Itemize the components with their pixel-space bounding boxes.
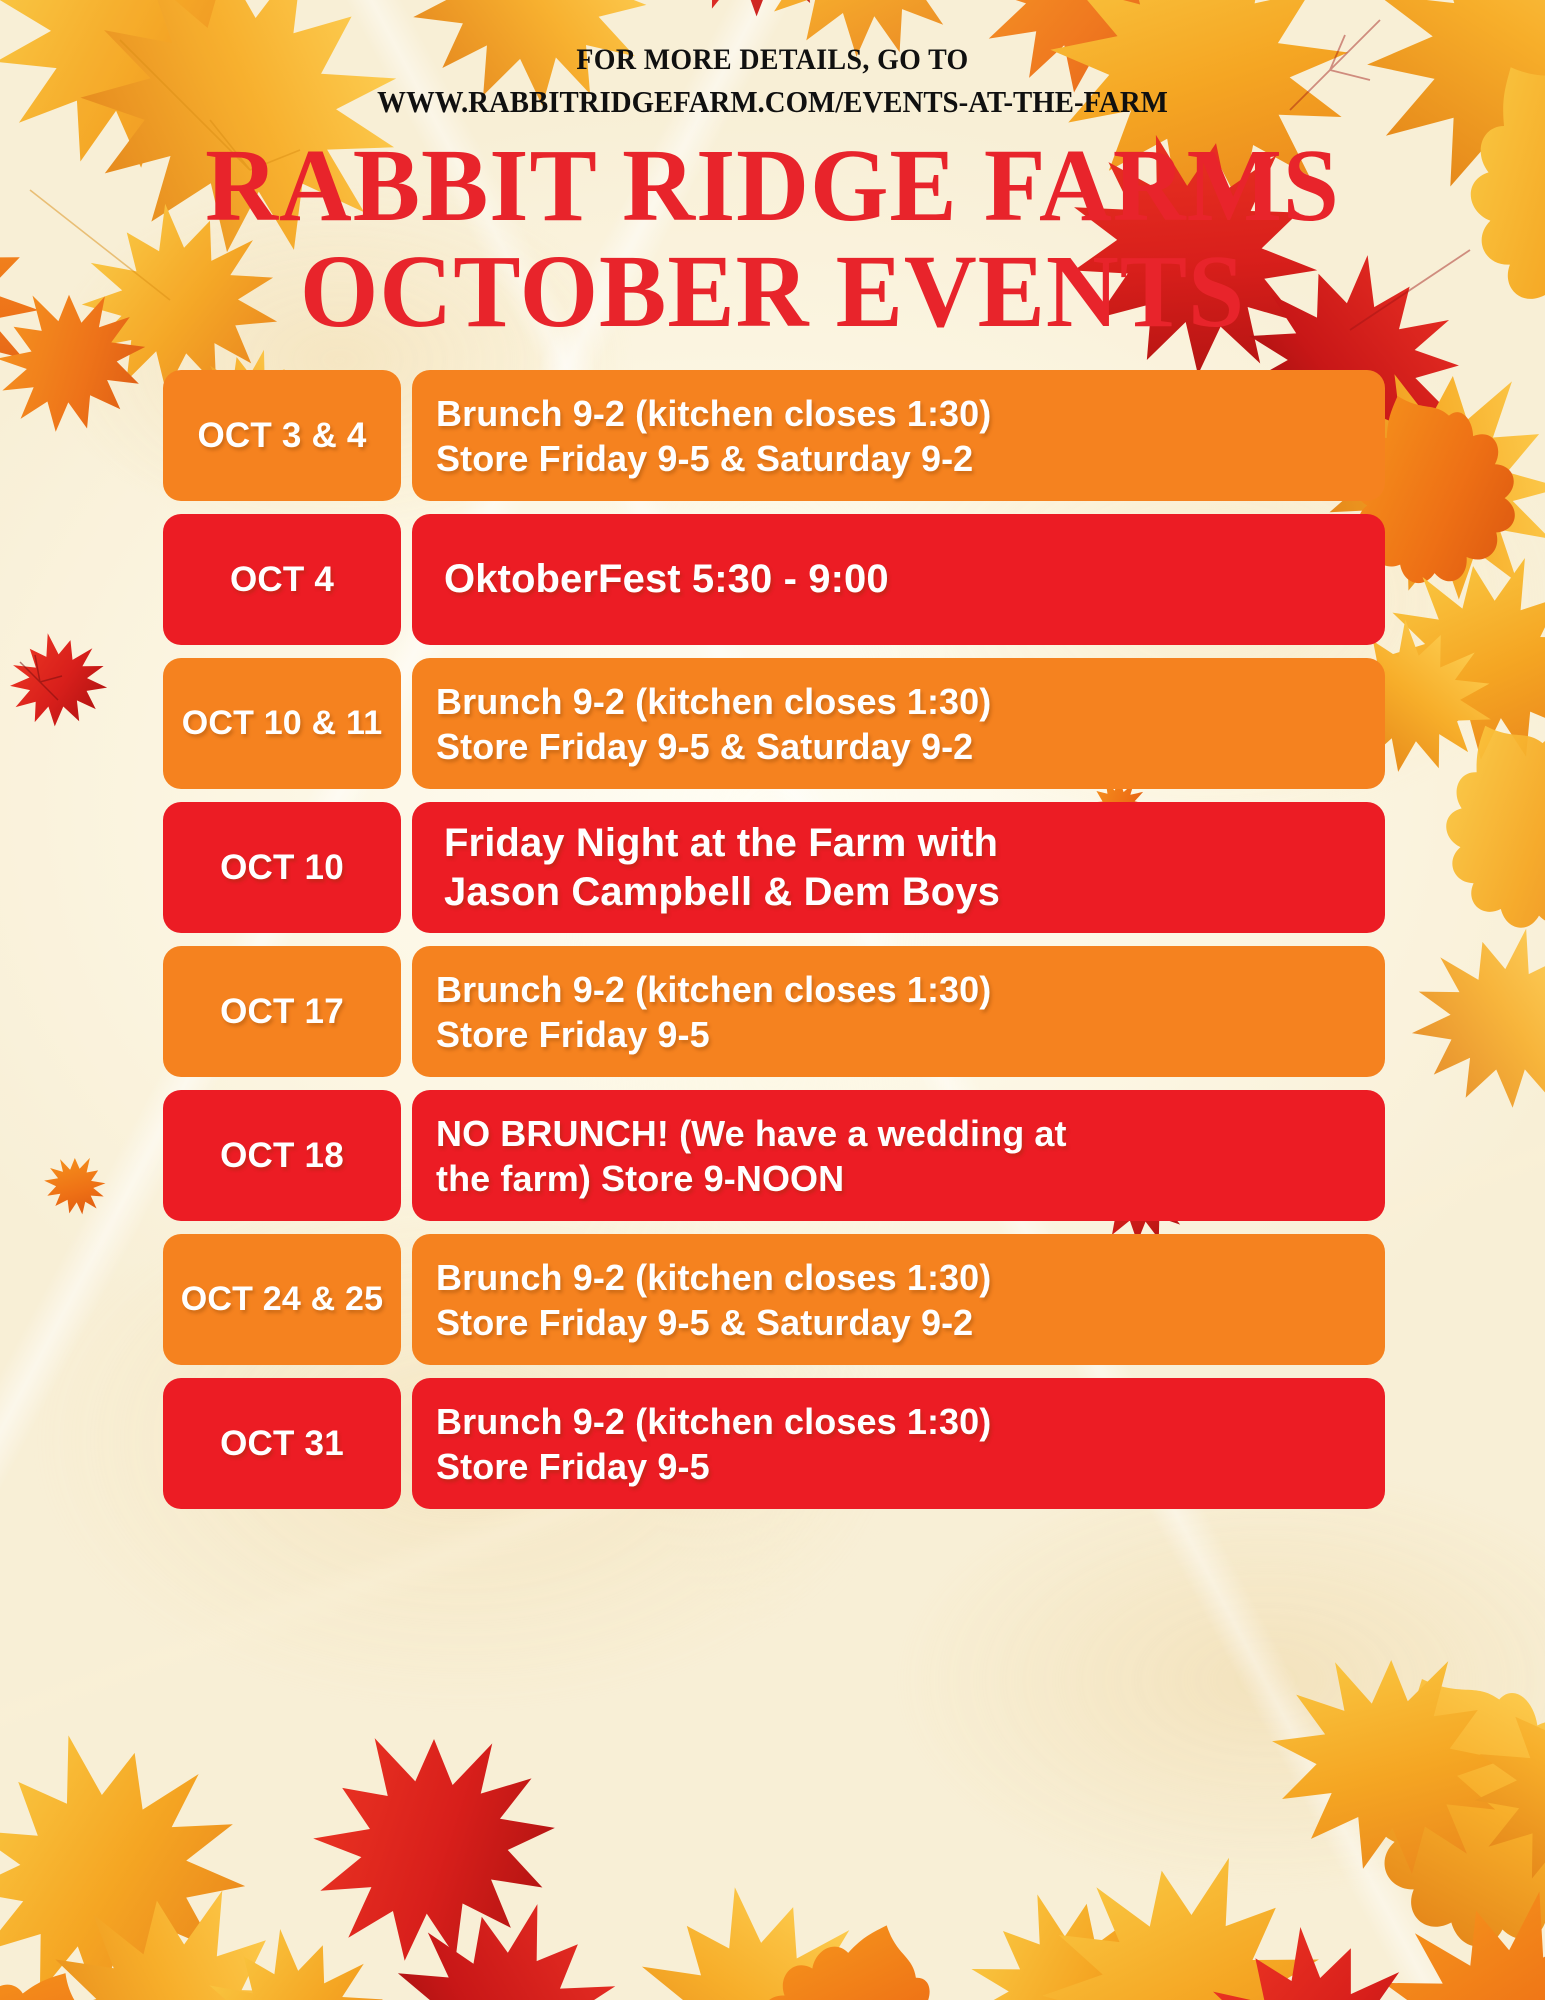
event-row: OCT 18NO BRUNCH! (We have a wedding atth…: [163, 1090, 1385, 1221]
event-description-line: Brunch 9-2 (kitchen closes 1:30): [436, 391, 991, 436]
event-description-line: Store Friday 9-5: [436, 1012, 991, 1057]
event-description-line: Store Friday 9-5 & Saturday 9-2: [436, 1300, 991, 1345]
event-date-badge: OCT 24 & 25: [163, 1234, 401, 1365]
event-description: Brunch 9-2 (kitchen closes 1:30)Store Fr…: [412, 370, 1385, 501]
page-subtitle: OCTOBER EVENTS: [23, 237, 1522, 346]
event-description-line: the farm) Store 9-NOON: [436, 1156, 1067, 1201]
event-description-line: Store Friday 9-5 & Saturday 9-2: [436, 436, 991, 481]
event-date-badge: OCT 17: [163, 946, 401, 1077]
event-description-line: Brunch 9-2 (kitchen closes 1:30): [436, 967, 991, 1012]
event-date-badge: OCT 10: [163, 802, 401, 933]
event-description-line: Store Friday 9-5 & Saturday 9-2: [436, 724, 991, 769]
event-row: OCT 4OktoberFest 5:30 - 9:00: [163, 514, 1385, 645]
event-date-badge: OCT 4: [163, 514, 401, 645]
event-row: OCT 24 & 25Brunch 9-2 (kitchen closes 1:…: [163, 1234, 1385, 1365]
event-description: OktoberFest 5:30 - 9:00: [412, 514, 1385, 645]
event-description-lines: Friday Night at the Farm withJason Campb…: [444, 819, 1000, 917]
event-description-lines: Brunch 9-2 (kitchen closes 1:30)Store Fr…: [436, 1255, 991, 1345]
details-kicker: FOR MORE DETAILS, GO TO WWW.RABBITRIDGEF…: [54, 0, 1491, 122]
event-description-line: Friday Night at the Farm with: [444, 819, 1000, 868]
event-description-lines: OktoberFest 5:30 - 9:00: [444, 555, 889, 604]
event-description-lines: Brunch 9-2 (kitchen closes 1:30)Store Fr…: [436, 967, 991, 1057]
event-flyer: FOR MORE DETAILS, GO TO WWW.RABBITRIDGEF…: [0, 0, 1545, 2000]
event-description-line: NO BRUNCH! (We have a wedding at: [436, 1111, 1067, 1156]
event-row: OCT 10 & 11Brunch 9-2 (kitchen closes 1:…: [163, 658, 1385, 789]
page-title: RABBIT RIDGE FARMS: [23, 132, 1522, 239]
event-date-badge: OCT 18: [163, 1090, 401, 1221]
event-row: OCT 31Brunch 9-2 (kitchen closes 1:30)St…: [163, 1378, 1385, 1509]
event-date-badge: OCT 31: [163, 1378, 401, 1509]
event-description: Brunch 9-2 (kitchen closes 1:30)Store Fr…: [412, 1378, 1385, 1509]
kicker-line-1: FOR MORE DETAILS, GO TO: [576, 43, 968, 76]
event-description-lines: Brunch 9-2 (kitchen closes 1:30)Store Fr…: [436, 679, 991, 769]
event-description-lines: Brunch 9-2 (kitchen closes 1:30)Store Fr…: [436, 1399, 991, 1489]
event-description: NO BRUNCH! (We have a wedding atthe farm…: [412, 1090, 1385, 1221]
event-description: Brunch 9-2 (kitchen closes 1:30)Store Fr…: [412, 946, 1385, 1077]
event-row: OCT 3 & 4Brunch 9-2 (kitchen closes 1:30…: [163, 370, 1385, 501]
event-description-line: Brunch 9-2 (kitchen closes 1:30): [436, 1255, 991, 1300]
event-date-badge: OCT 10 & 11: [163, 658, 401, 789]
event-row: OCT 17Brunch 9-2 (kitchen closes 1:30)St…: [163, 946, 1385, 1077]
event-row: OCT 10Friday Night at the Farm withJason…: [163, 802, 1385, 933]
event-description: Friday Night at the Farm withJason Campb…: [412, 802, 1385, 933]
event-description-line: Brunch 9-2 (kitchen closes 1:30): [436, 1399, 991, 1444]
event-description-line: Brunch 9-2 (kitchen closes 1:30): [436, 679, 991, 724]
event-description-line: Jason Campbell & Dem Boys: [444, 868, 1000, 917]
events-schedule: OCT 3 & 4Brunch 9-2 (kitchen closes 1:30…: [163, 370, 1385, 1522]
website-url: WWW.RABBITRIDGEFARM.COM/EVENTS-AT-THE-FA…: [54, 81, 1491, 123]
event-description-lines: NO BRUNCH! (We have a wedding atthe farm…: [436, 1111, 1067, 1201]
event-description-lines: Brunch 9-2 (kitchen closes 1:30)Store Fr…: [436, 391, 991, 481]
event-description-line: Store Friday 9-5: [436, 1444, 991, 1489]
event-description: Brunch 9-2 (kitchen closes 1:30)Store Fr…: [412, 1234, 1385, 1365]
event-description: Brunch 9-2 (kitchen closes 1:30)Store Fr…: [412, 658, 1385, 789]
event-description-line: OktoberFest 5:30 - 9:00: [444, 555, 889, 604]
event-date-badge: OCT 3 & 4: [163, 370, 401, 501]
